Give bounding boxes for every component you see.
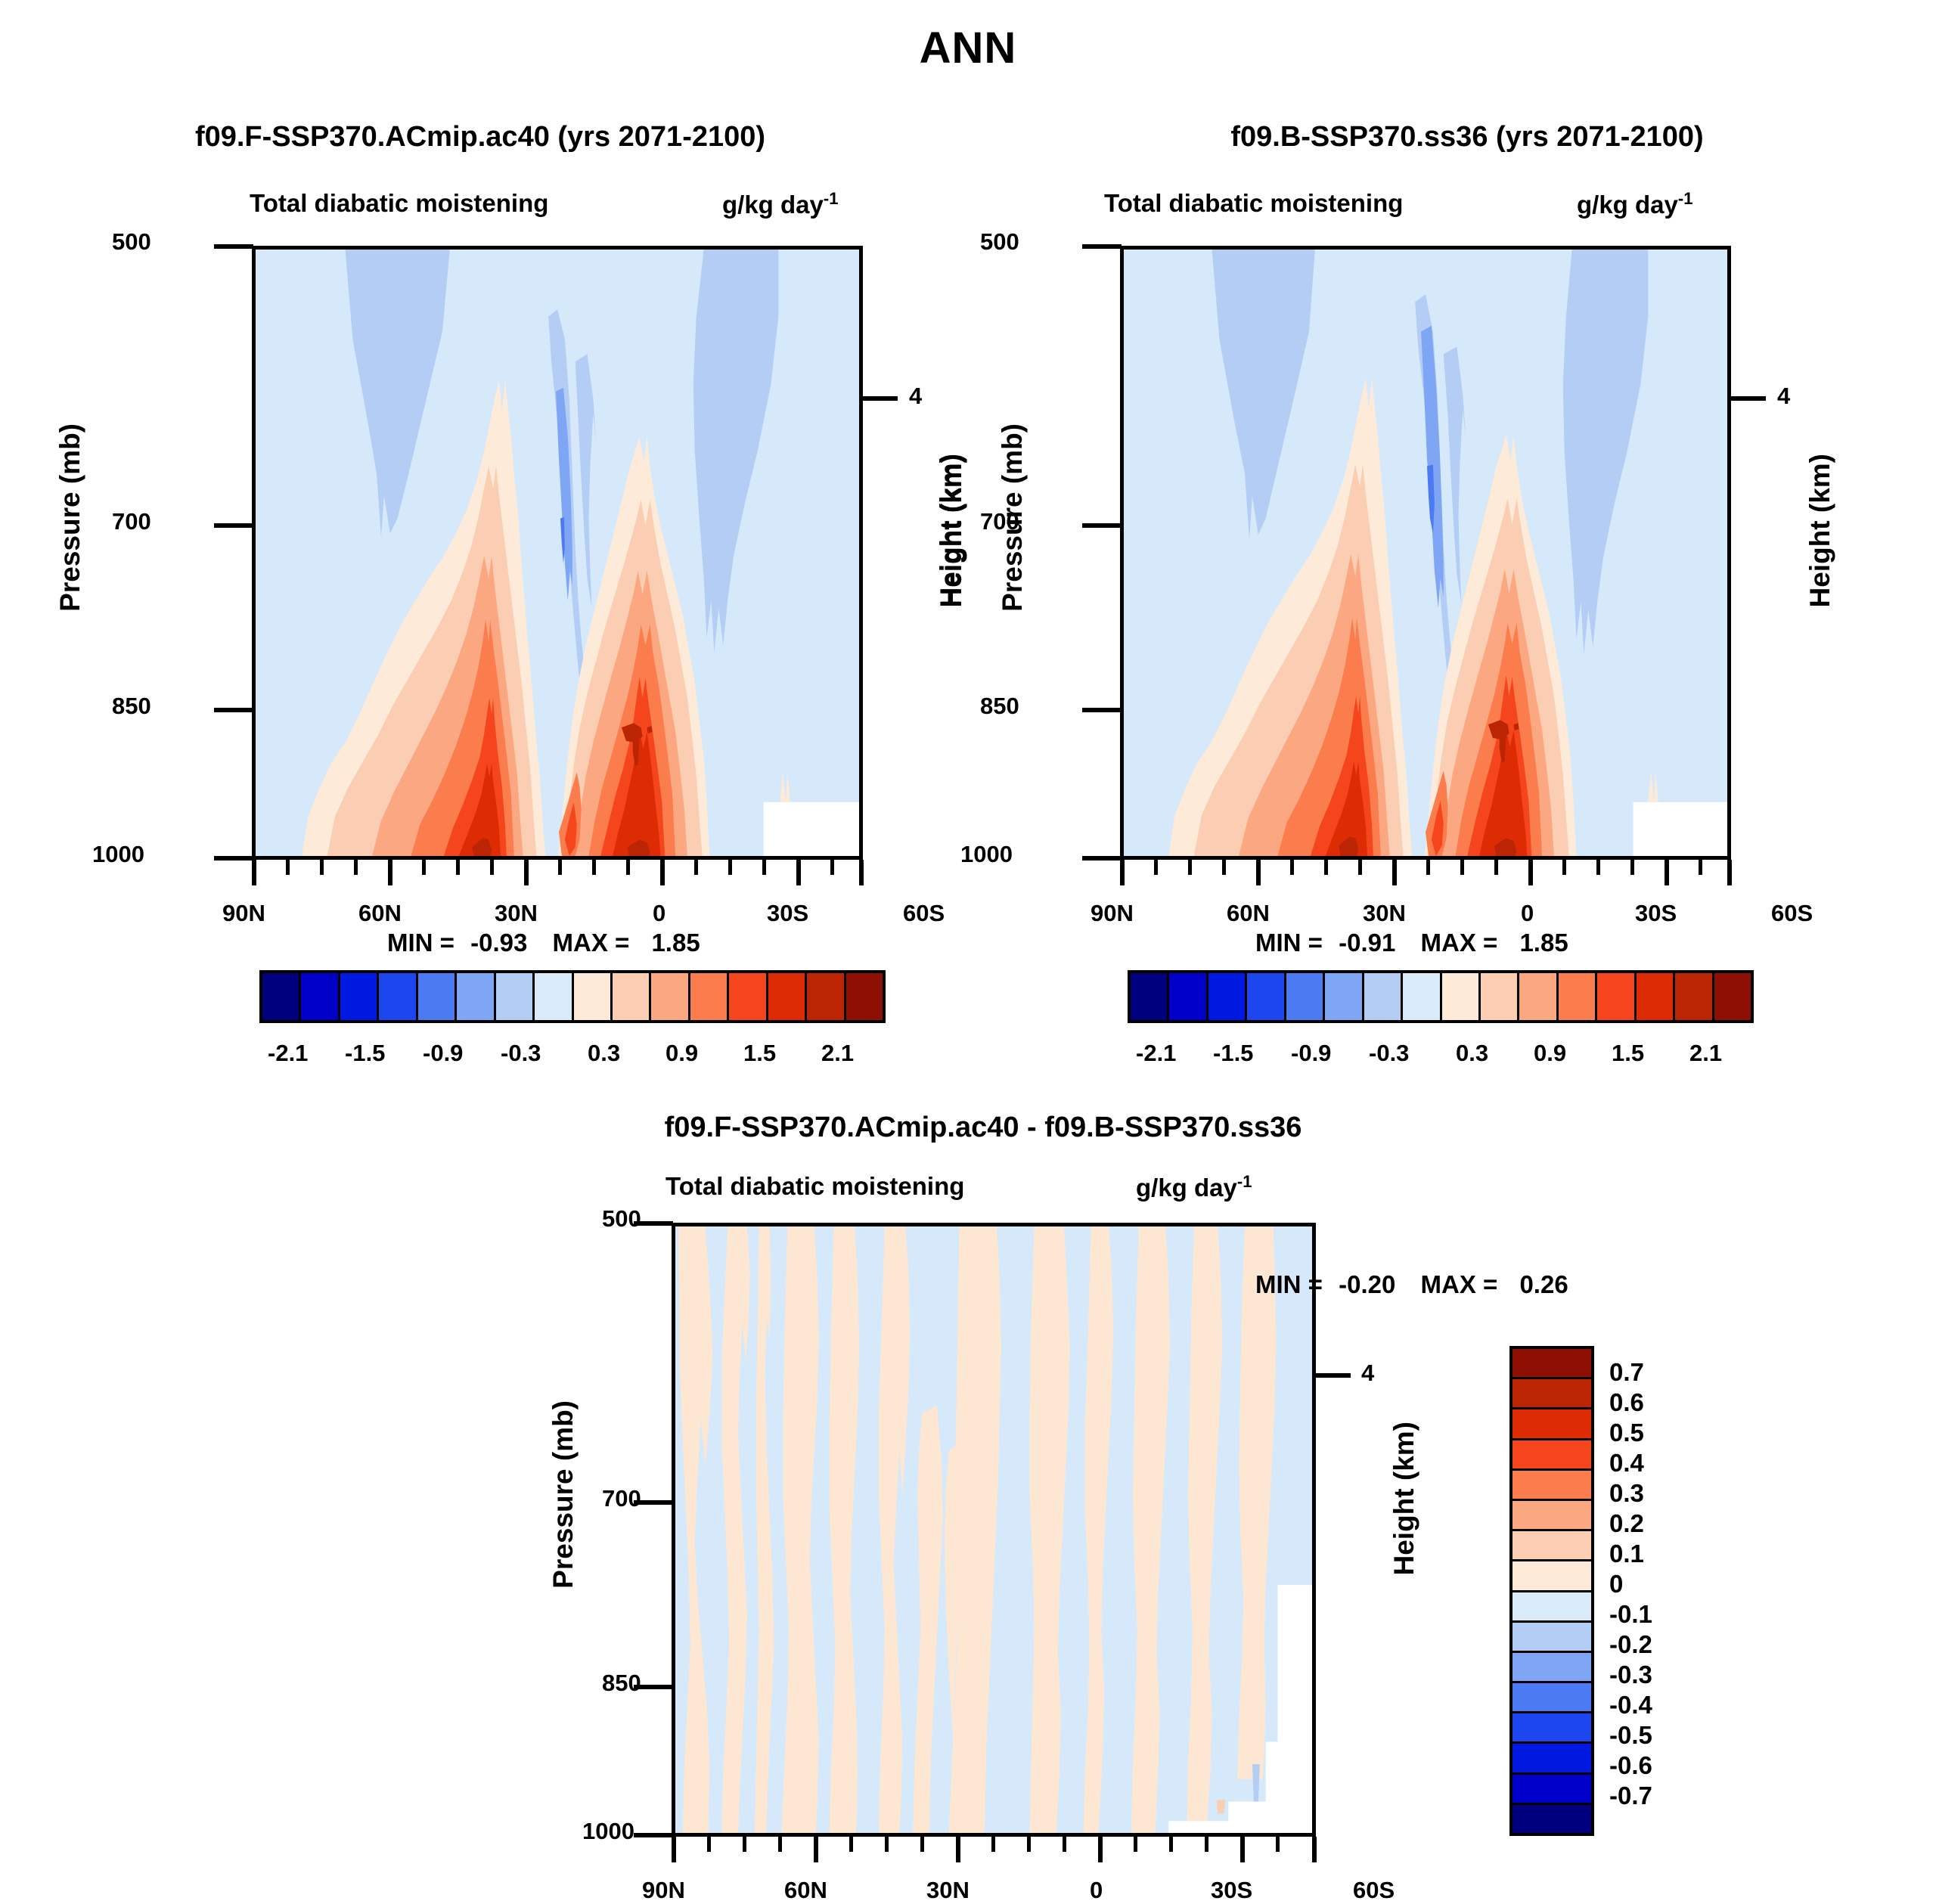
cb-right-lab-1: -1.5 — [1213, 1040, 1253, 1067]
colorbar-swatch-6 — [496, 973, 535, 1020]
colorbar-swatch-1 — [1169, 973, 1208, 1020]
cb-left-lab-5: 0.9 — [665, 1040, 698, 1067]
colorbar-v-swatch-5 — [1512, 1501, 1591, 1531]
cb-left-lab-7: 2.1 — [821, 1040, 854, 1067]
ytick-left-850: 850 — [112, 693, 151, 720]
colorbar-swatch-11 — [690, 973, 729, 1020]
xtick-right-90N: 90N — [1091, 900, 1134, 927]
max-value-left: 1.85 — [651, 929, 700, 957]
colorbar-swatch-3 — [1247, 973, 1286, 1020]
colorbar-v-swatch-15 — [1512, 1805, 1591, 1833]
colorbar-swatch-4 — [418, 973, 457, 1020]
xtick-left-90N: 90N — [222, 900, 265, 927]
colorbar-swatch-7 — [535, 973, 573, 1020]
colorbar-v-label-10: -0.3 — [1609, 1661, 1652, 1689]
plot-left — [252, 246, 863, 860]
minmax-right: MIN = -0.91 MAX = 1.85 — [1255, 929, 1568, 957]
units-text-diff: g/kg day — [1136, 1174, 1237, 1202]
colorbar-v-swatch-10 — [1512, 1653, 1591, 1683]
colorbar-swatch-13 — [768, 973, 807, 1020]
ytick-diff-850: 850 — [602, 1670, 641, 1697]
y2label-right: Height (km) — [1804, 454, 1836, 608]
xtick-right-60S: 60S — [1771, 900, 1813, 927]
xtick-diff-90N: 90N — [642, 1877, 685, 1904]
y2label-left-mirror: Height (km) — [935, 454, 966, 608]
ytick-left-500: 500 — [112, 228, 151, 256]
colorbar-swatch-12 — [1597, 973, 1636, 1020]
colorbar-swatch-10 — [651, 973, 690, 1020]
cb-right-lab-5: 0.9 — [1534, 1040, 1566, 1067]
colorbar-swatch-1 — [301, 973, 340, 1020]
xtick-left-0: 0 — [653, 900, 665, 927]
ytick-mark-right-0 — [1082, 244, 1122, 249]
colorbar-v-swatch-0 — [1512, 1349, 1591, 1379]
y2tick-left-4: 4 — [909, 383, 922, 410]
cb-left-lab-4: 0.3 — [588, 1040, 620, 1067]
xtick-left-60S: 60S — [903, 900, 945, 927]
colorbar-swatch-3 — [379, 973, 417, 1020]
colorbar-swatch-4 — [1286, 973, 1325, 1020]
colorbar-v-swatch-8 — [1512, 1592, 1591, 1623]
panel-units-right: g/kg day-1 — [1577, 189, 1692, 219]
xtick-left-30S: 30S — [767, 900, 808, 927]
colorbar-swatch-14 — [807, 973, 845, 1020]
colorbar-v-swatch-7 — [1512, 1561, 1591, 1592]
units-text-left: g/kg day — [722, 191, 824, 219]
min-label-diff: MIN = — [1255, 1270, 1323, 1298]
colorbar-swatch-12 — [729, 973, 768, 1020]
colorbar-swatch-5 — [1325, 973, 1364, 1020]
ytick-left-1000: 1000 — [92, 841, 144, 868]
colorbar-diff-vertical — [1509, 1346, 1594, 1836]
colorbar-v-swatch-14 — [1512, 1775, 1591, 1805]
ytick-diff-1000: 1000 — [582, 1818, 634, 1845]
y2tick-right-4: 4 — [1777, 383, 1790, 410]
ytick-mark-left-1 — [214, 523, 253, 528]
y2label-diff: Height (km) — [1388, 1422, 1420, 1576]
colorbar-v-label-7: 0 — [1609, 1570, 1623, 1599]
colorbar-swatch-0 — [1131, 973, 1169, 1020]
colorbar-swatch-11 — [1559, 973, 1597, 1020]
colorbar-v-label-12: -0.5 — [1609, 1721, 1652, 1750]
colorbar-swatch-8 — [1442, 973, 1481, 1020]
max-value-right: 1.85 — [1519, 929, 1568, 957]
ytick-mark-diff-3 — [634, 1833, 673, 1837]
cb-right-lab-4: 0.3 — [1456, 1040, 1488, 1067]
colorbar-v-label-13: -0.6 — [1609, 1751, 1652, 1780]
colorbar-v-label-6: 0.1 — [1609, 1540, 1644, 1568]
contour-field-diff — [675, 1226, 1312, 1833]
cb-left-lab-6: 1.5 — [743, 1040, 776, 1067]
colorbar-v-label-3: 0.4 — [1609, 1449, 1644, 1478]
colorbar-swatch-9 — [1481, 973, 1519, 1020]
ytick-mark-right-3 — [1082, 856, 1122, 861]
min-value-left: -0.93 — [470, 929, 527, 957]
cb-right-lab-2: -0.9 — [1291, 1040, 1331, 1067]
units-exponent-diff: -1 — [1237, 1172, 1252, 1191]
colorbar-swatch-9 — [613, 973, 651, 1020]
xtick-left-30N: 30N — [495, 900, 538, 927]
xtick-diff-60N: 60N — [784, 1877, 827, 1904]
ylabel-left: Pressure (mb) — [54, 423, 86, 612]
colorbar-v-swatch-4 — [1512, 1471, 1591, 1501]
ytick-mark-right-1 — [1082, 523, 1122, 528]
colorbar-v-swatch-3 — [1512, 1440, 1591, 1471]
max-label-diff: MAX = — [1421, 1270, 1498, 1298]
colorbar-swatch-2 — [340, 973, 379, 1020]
colorbar-swatch-15 — [1714, 973, 1751, 1020]
colorbar-swatch-0 — [262, 973, 301, 1020]
colorbar-v-swatch-12 — [1512, 1713, 1591, 1744]
cb-left-lab-3: -0.3 — [501, 1040, 541, 1067]
xtick-diff-0: 0 — [1090, 1877, 1103, 1904]
plot-right — [1120, 246, 1731, 860]
colorbar-swatch-7 — [1403, 973, 1441, 1020]
colorbar-v-label-0: 0.7 — [1609, 1358, 1644, 1387]
colorbar-v-swatch-2 — [1512, 1409, 1591, 1440]
panel-title-left: f09.F-SSP370.ACmip.ac40 (yrs 2071-2100) — [45, 121, 915, 153]
cb-right-lab-3: -0.3 — [1369, 1040, 1409, 1067]
colorbar-v-label-9: -0.2 — [1609, 1630, 1652, 1659]
units-text-right: g/kg day — [1577, 191, 1678, 219]
cb-left-lab-2: -0.9 — [423, 1040, 463, 1067]
panel-title-right: f09.B-SSP370.ss36 (yrs 2071-2100) — [1051, 121, 1883, 153]
y2tick-mark-left — [861, 396, 898, 401]
xtick-left-60N: 60N — [358, 900, 402, 927]
colorbar-v-label-8: -0.1 — [1609, 1600, 1652, 1629]
colorbar-v-label-14: -0.7 — [1609, 1782, 1652, 1810]
colorbar-v-label-11: -0.4 — [1609, 1691, 1652, 1719]
panel-variable-diff: Total diabatic moistening — [665, 1172, 964, 1201]
units-exponent-right: -1 — [1678, 189, 1693, 208]
minmax-diff: MIN = -0.20 MAX = 0.26 — [1255, 1270, 1568, 1299]
max-label-left: MAX = — [553, 929, 630, 957]
ytick-mark-diff-2 — [634, 1685, 673, 1689]
colorbar-swatch-5 — [457, 973, 495, 1020]
xtick-right-30N: 30N — [1363, 900, 1406, 927]
colorbar-v-swatch-13 — [1512, 1744, 1591, 1774]
colorbar-v-label-5: 0.2 — [1609, 1509, 1644, 1538]
colorbar-swatch-8 — [574, 973, 613, 1020]
panel-units-diff: g/kg day-1 — [1136, 1172, 1252, 1202]
ytick-mark-diff-0 — [634, 1221, 673, 1226]
ytick-mark-left-2 — [214, 708, 253, 712]
ylabel-diff: Pressure (mb) — [548, 1400, 579, 1589]
ytick-mark-diff-1 — [634, 1500, 673, 1505]
min-label-left: MIN = — [387, 929, 455, 957]
ytick-right-1000: 1000 — [960, 841, 1013, 868]
xtick-diff-60S: 60S — [1353, 1877, 1395, 1904]
colorbar-swatch-10 — [1519, 973, 1558, 1020]
ytick-mark-left-0 — [214, 244, 253, 249]
colorbar-left — [259, 970, 886, 1023]
xtick-right-0: 0 — [1521, 900, 1534, 927]
colorbar-swatch-14 — [1675, 973, 1714, 1020]
ytick-diff-700: 700 — [602, 1485, 641, 1512]
panel-variable-left: Total diabatic moistening — [250, 189, 548, 218]
ytick-mark-right-2 — [1082, 708, 1122, 712]
min-value-right: -0.91 — [1339, 929, 1395, 957]
colorbar-v-swatch-1 — [1512, 1379, 1591, 1409]
colorbar-v-label-2: 0.5 — [1609, 1419, 1644, 1447]
xtick-diff-30S: 30S — [1211, 1877, 1252, 1904]
colorbar-v-label-4: 0.3 — [1609, 1479, 1644, 1508]
colorbar-v-swatch-11 — [1512, 1683, 1591, 1713]
panel-title-diff: f09.F-SSP370.ACmip.ac40 - f09.B-SSP370.s… — [514, 1112, 1452, 1144]
colorbar-swatch-6 — [1364, 973, 1403, 1020]
colorbar-swatch-15 — [846, 973, 883, 1020]
ytick-diff-500: 500 — [602, 1205, 641, 1233]
ytick-right-850: 850 — [980, 693, 1019, 720]
ytick-right-500: 500 — [980, 228, 1019, 256]
main-title: ANN — [0, 23, 1936, 73]
units-exponent-left: -1 — [824, 189, 839, 208]
minmax-left: MIN = -0.93 MAX = 1.85 — [387, 929, 700, 957]
ytick-mark-left-3 — [214, 856, 253, 861]
max-label-right: MAX = — [1421, 929, 1498, 957]
xtick-right-30S: 30S — [1635, 900, 1677, 927]
contour-field-left — [256, 250, 859, 856]
max-value-diff: 0.26 — [1519, 1270, 1568, 1298]
min-value-diff: -0.20 — [1339, 1270, 1395, 1298]
cb-left-lab-1: -1.5 — [345, 1040, 385, 1067]
panel-variable-right: Total diabatic moistening — [1104, 189, 1403, 218]
plot-diff — [672, 1223, 1316, 1837]
contour-field-right — [1124, 250, 1727, 856]
min-label-right: MIN = — [1255, 929, 1323, 957]
colorbar-right — [1128, 970, 1754, 1023]
cb-right-lab-0: -2.1 — [1136, 1040, 1176, 1067]
colorbar-v-swatch-9 — [1512, 1623, 1591, 1653]
colorbar-swatch-13 — [1637, 973, 1675, 1020]
cb-left-lab-0: -2.1 — [268, 1040, 308, 1067]
y2tick-diff-4: 4 — [1361, 1360, 1374, 1387]
colorbar-swatch-2 — [1208, 973, 1247, 1020]
y2tick-mark-diff — [1314, 1373, 1351, 1378]
y2tick-mark-right — [1730, 396, 1766, 401]
cb-right-lab-7: 2.1 — [1689, 1040, 1722, 1067]
colorbar-v-swatch-6 — [1512, 1531, 1591, 1561]
ylabel-right: Pressure (mb) — [997, 423, 1028, 612]
colorbar-v-label-1: 0.6 — [1609, 1388, 1644, 1417]
panel-units-left: g/kg day-1 — [722, 189, 838, 219]
cb-right-lab-6: 1.5 — [1612, 1040, 1644, 1067]
ytick-left-700: 700 — [112, 508, 151, 535]
xtick-right-60N: 60N — [1227, 900, 1270, 927]
xtick-diff-30N: 30N — [926, 1877, 970, 1904]
